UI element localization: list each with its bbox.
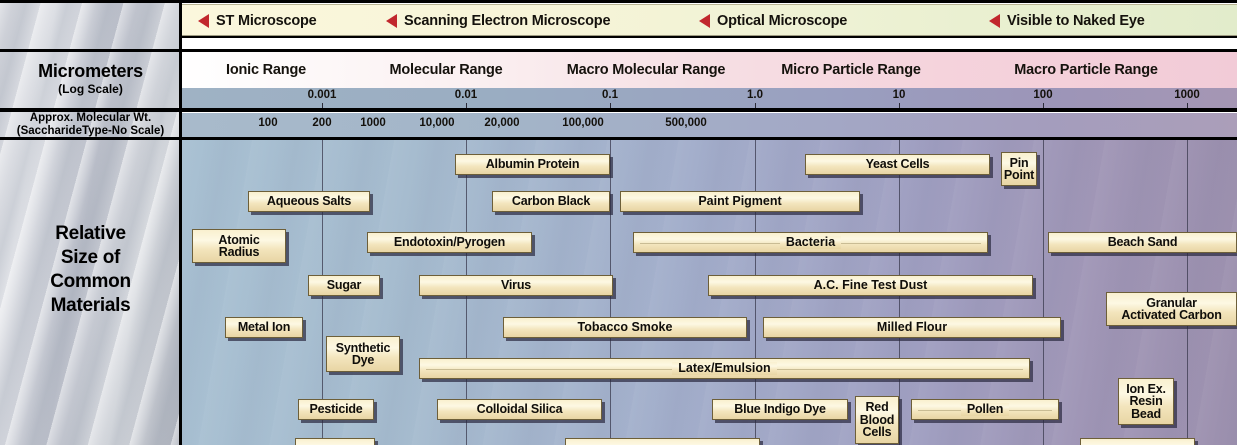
divider-top <box>0 0 1237 3</box>
divider-above-ranges <box>0 49 1237 52</box>
material-bar-aqueous-salts[interactable]: Aqueous Salts <box>248 191 370 212</box>
material-bar-blue-indigo-dye[interactable]: Blue Indigo Dye <box>712 399 848 420</box>
material-bar-bacteria[interactable]: Bacteria <box>633 232 988 253</box>
material-bar-label: Endotoxin/Pyrogen <box>394 236 505 249</box>
material-bar-albumin-protein[interactable]: Albumin Protein <box>455 154 610 175</box>
legend-item-3[interactable]: Visible to Naked Eye <box>989 5 1237 37</box>
divider-left-column <box>179 0 182 445</box>
material-bar-label: Carbon Black <box>512 195 590 208</box>
material-bar-label: SyntheticDye <box>336 342 390 367</box>
molecular-weight-axis: 100200100010,00020,000100,000500,000 <box>181 113 1237 137</box>
material-bar-tobacco-smoke[interactable]: Tobacco Smoke <box>503 317 747 338</box>
range-label-4: Macro Particle Range <box>971 52 1201 88</box>
legend-item-2[interactable]: Optical Microscope <box>699 5 949 37</box>
micrometer-tick-label-6: 1000 <box>1174 89 1200 101</box>
material-bar-label: Blue Indigo Dye <box>734 403 825 416</box>
material-bar-label: GranularActivated Carbon <box>1121 297 1221 322</box>
material-bar-synthetic-dye[interactable]: SyntheticDye <box>326 336 400 372</box>
material-bar-label: Sugar <box>327 279 361 292</box>
material-bar-partial-27[interactable] <box>1080 438 1195 445</box>
divider-under-legend <box>181 36 1237 38</box>
material-bar-metal-ion[interactable]: Metal Ion <box>225 317 303 338</box>
material-bar-colloidal-silica[interactable]: Colloidal Silica <box>437 399 602 420</box>
material-bar-atomic-radius[interactable]: AtomicRadius <box>192 229 286 263</box>
molecular-weight-label-line1: Approx. Molecular Wt. <box>0 111 181 125</box>
relative-size-label-cell: Relative Size of Common Materials <box>0 222 181 322</box>
material-bar-label: Aqueous Salts <box>267 195 351 208</box>
relative-size-line-2: Size of <box>0 246 181 270</box>
material-bar-label: Yeast Cells <box>866 158 930 171</box>
molecular-weight-label-6: 500,000 <box>665 117 707 129</box>
material-bar-paint-pigment[interactable]: Paint Pigment <box>620 191 860 212</box>
molecular-weight-label-0: 100 <box>258 117 277 129</box>
range-label-1: Molecular Range <box>351 52 541 88</box>
material-bar-granular-activated-carbon[interactable]: GranularActivated Carbon <box>1106 292 1237 326</box>
material-bar-pollen[interactable]: Pollen <box>911 399 1059 420</box>
relative-size-line-4: Materials <box>0 294 181 318</box>
material-bar-label: Ion Ex.ResinBead <box>1126 383 1166 421</box>
molecular-weight-label-5: 100,000 <box>562 117 604 129</box>
legend-item-0[interactable]: ST Microscope <box>198 5 413 37</box>
microscope-legend-band: ST MicroscopeScanning Electron Microscop… <box>181 4 1237 36</box>
material-bar-label: Virus <box>501 279 531 292</box>
micrometers-label-cell: Micrometers (Log Scale) <box>0 52 181 102</box>
molecular-weight-label-4: 20,000 <box>484 117 519 129</box>
legend-item-label: Scanning Electron Microscope <box>404 13 610 29</box>
material-bar-label: Metal Ion <box>238 321 290 334</box>
left-triangle-icon <box>699 14 710 28</box>
material-bar-partial-26[interactable] <box>565 438 760 445</box>
micrometer-tick-label-2: 0.1 <box>602 89 618 101</box>
left-triangle-icon <box>989 14 1000 28</box>
material-bar-label: RedBloodCells <box>860 401 894 439</box>
legend-item-label: ST Microscope <box>216 13 317 29</box>
material-bar-label: PinPoint <box>1004 157 1034 182</box>
micrometer-tick-label-0: 0.001 <box>308 89 337 101</box>
left-triangle-icon <box>198 14 209 28</box>
micrometer-tick-label-4: 10 <box>893 89 906 101</box>
material-bar-ion-ex-resin-bead[interactable]: Ion Ex.ResinBead <box>1118 378 1174 425</box>
divider-above-plot <box>0 137 1237 140</box>
material-bar-partial-25[interactable] <box>295 438 375 445</box>
materials-plot-area: Albumin ProteinYeast CellsPinPointAqueou… <box>181 140 1237 445</box>
material-bar-label: Bacteria <box>780 236 841 249</box>
range-label-2: Macro Molecular Range <box>541 52 751 88</box>
material-bar-pin-point[interactable]: PinPoint <box>1001 152 1037 186</box>
material-bar-pesticide[interactable]: Pesticide <box>298 399 374 420</box>
relative-size-line-3: Common <box>0 270 181 294</box>
divider-above-molwt <box>0 108 1237 112</box>
legend-item-label: Visible to Naked Eye <box>1007 13 1145 29</box>
left-triangle-icon <box>386 14 397 28</box>
particle-size-chart: Micrometers (Log Scale) Approx. Molecula… <box>0 0 1237 445</box>
molecular-weight-label-2: 1000 <box>360 117 386 129</box>
relative-size-line-1: Relative <box>0 222 181 246</box>
material-bar-label: Pollen <box>961 403 1009 416</box>
material-bar-label: Albumin Protein <box>486 158 580 171</box>
micrometer-tick-label-5: 100 <box>1033 89 1052 101</box>
material-bar-label: Tobacco Smoke <box>578 321 673 334</box>
micrometers-label: Micrometers <box>0 52 181 82</box>
material-bar-beach-sand[interactable]: Beach Sand <box>1048 232 1237 253</box>
material-bar-label: Pesticide <box>309 403 362 416</box>
left-label-column: Micrometers (Log Scale) Approx. Molecula… <box>0 0 181 445</box>
material-bar-label: AtomicRadius <box>218 234 259 259</box>
material-bar-a-c-fine-test-dust[interactable]: A.C. Fine Test Dust <box>708 275 1033 296</box>
range-label-0: Ionic Range <box>181 52 351 88</box>
material-bar-label: Beach Sand <box>1108 236 1178 249</box>
material-bar-endotoxin-pyrogen[interactable]: Endotoxin/Pyrogen <box>367 232 532 253</box>
size-range-band: Ionic RangeMolecular RangeMacro Molecula… <box>181 52 1237 88</box>
molecular-weight-label-cell: Approx. Molecular Wt. (SaccharideType-No… <box>0 111 181 139</box>
material-bar-label: Colloidal Silica <box>477 403 563 416</box>
material-bar-milled-flour[interactable]: Milled Flour <box>763 317 1061 338</box>
molecular-weight-label-3: 10,000 <box>419 117 454 129</box>
material-bar-red-blood-cells[interactable]: RedBloodCells <box>855 396 899 444</box>
material-bar-label: Latex/Emulsion <box>672 362 776 375</box>
material-bar-label: Paint Pigment <box>698 195 781 208</box>
legend-item-label: Optical Microscope <box>717 13 847 29</box>
material-bar-yeast-cells[interactable]: Yeast Cells <box>805 154 990 175</box>
legend-item-1[interactable]: Scanning Electron Microscope <box>386 5 736 37</box>
range-label-3: Micro Particle Range <box>751 52 951 88</box>
material-bar-label: Milled Flour <box>877 321 947 334</box>
material-bar-virus[interactable]: Virus <box>419 275 613 296</box>
material-bar-label: A.C. Fine Test Dust <box>814 279 928 292</box>
material-bar-latex-emulsion[interactable]: Latex/Emulsion <box>419 358 1030 379</box>
molecular-weight-label-1: 200 <box>312 117 331 129</box>
material-bar-carbon-black[interactable]: Carbon Black <box>492 191 610 212</box>
micrometers-sublabel: (Log Scale) <box>0 82 181 96</box>
micrometer-tick-label-1: 0.01 <box>455 89 477 101</box>
micrometer-tick-label-3: 1.0 <box>747 89 763 101</box>
material-bar-sugar[interactable]: Sugar <box>308 275 380 296</box>
